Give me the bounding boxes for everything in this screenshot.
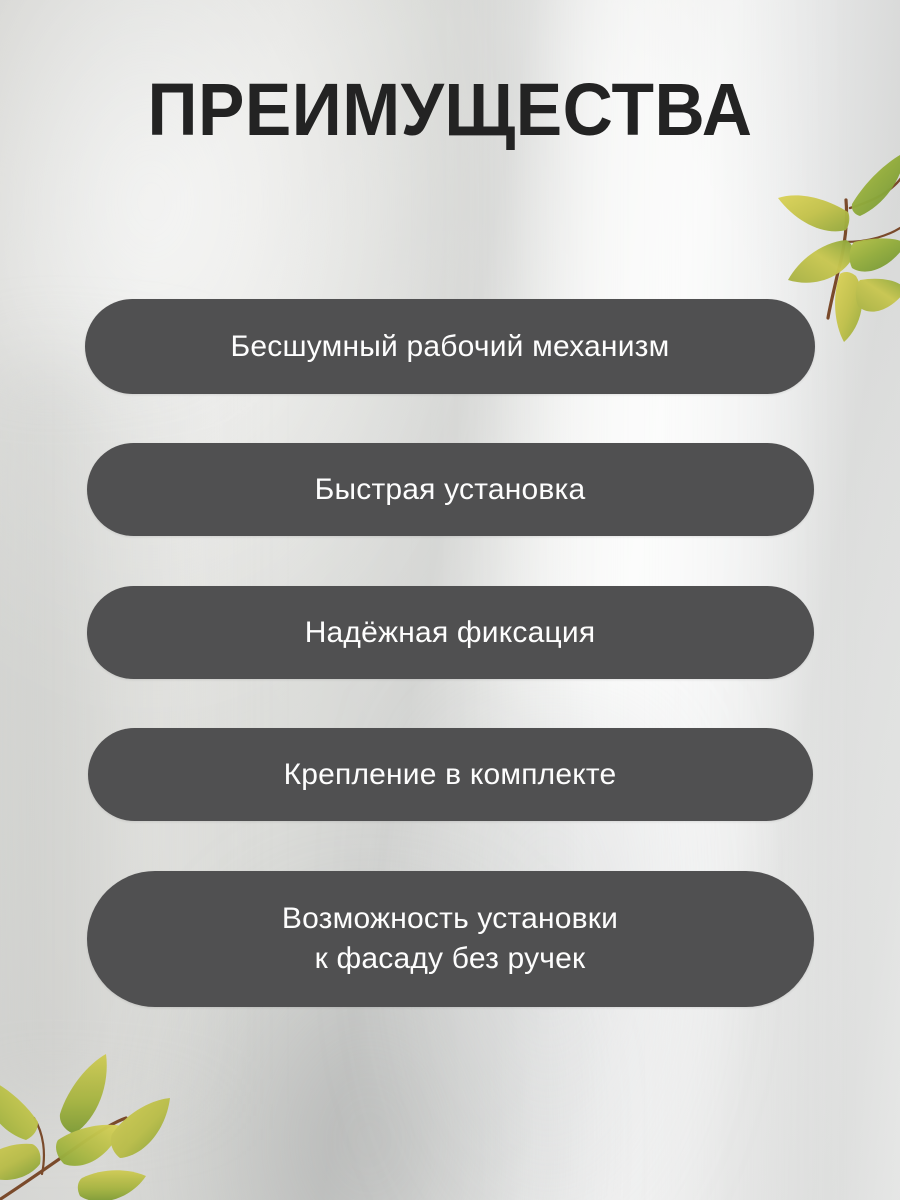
benefit-text: Надёжная фиксация [305,613,596,653]
benefit-text: Возможность установки к фасаду без ручек [282,899,618,978]
benefit-line: Бесшумный рабочий механизм [231,327,670,367]
benefits-list: Бесшумный рабочий механизм Быстрая устан… [0,299,900,1007]
benefit-line: Возможность установки [282,899,618,939]
benefit-text: Крепление в комплекте [284,755,617,795]
benefit-pill-fast-installation[interactable]: Быстрая установка [87,443,814,536]
benefits-poster: ПРЕИМУЩЕСТВА Бесшумный рабочий механизм … [0,0,900,1200]
benefit-line: Надёжная фиксация [305,613,596,653]
benefit-pill-reliable-fixation[interactable]: Надёжная фиксация [87,586,814,679]
page-title: ПРЕИМУЩЕСТВА [27,72,873,147]
benefit-pill-quiet-mechanism[interactable]: Бесшумный рабочий механизм [85,299,815,394]
benefit-line: к фасаду без ручек [282,939,618,979]
benefit-line: Крепление в комплекте [284,755,617,795]
benefit-pill-handleless-facade[interactable]: Возможность установки к фасаду без ручек [87,871,814,1007]
benefit-pill-mount-included[interactable]: Крепление в комплекте [88,728,813,821]
benefit-line: Быстрая установка [315,470,586,510]
benefit-text: Бесшумный рабочий механизм [231,327,670,367]
benefit-text: Быстрая установка [315,470,586,510]
leaves-branch-icon [0,1018,236,1200]
